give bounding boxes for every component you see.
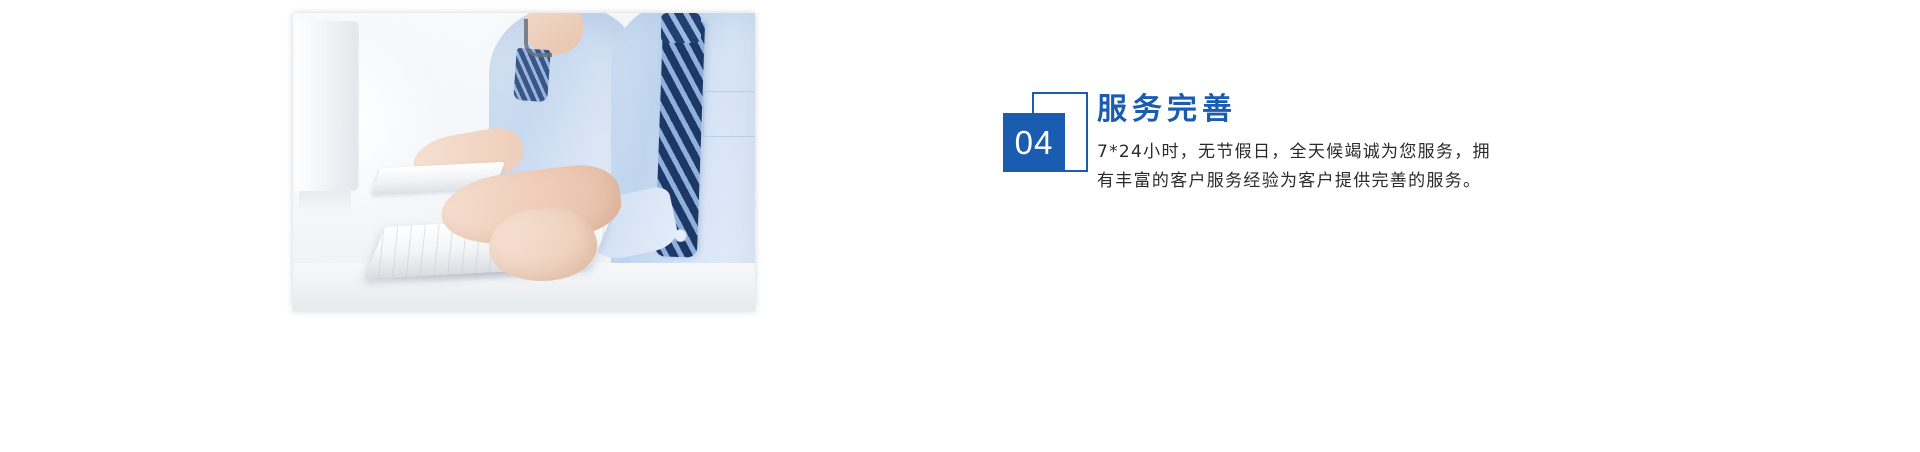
monitor-shape xyxy=(295,21,359,191)
monitor-stand-shape xyxy=(299,191,351,213)
person-front-pocket xyxy=(703,91,755,137)
feature-content: 04 服务完善 7*24小时，无节假日，全天候竭诚为您服务，拥有丰富的客户服务经… xyxy=(1003,92,1523,252)
feature-description: 7*24小时，无节假日，全天候竭诚为您服务，拥有丰富的客户服务经验为客户提供完善… xyxy=(1097,138,1497,196)
headset-icon xyxy=(524,19,552,57)
badge-solid-square: 04 xyxy=(1003,113,1065,172)
feature-banner: 04 服务完善 7*24小时，无节假日，全天候竭诚为您服务，拥有丰富的客户服务经… xyxy=(0,0,1920,452)
feature-photo-frame xyxy=(293,13,755,311)
feature-number-badge: 04 xyxy=(1003,92,1093,182)
office-customer-service-team-photo xyxy=(293,13,755,311)
feature-title: 服务完善 xyxy=(1097,92,1517,128)
feature-number-label: 04 xyxy=(1015,126,1054,159)
feature-text-column: 服务完善 7*24小时，无节假日，全天候竭诚为您服务，拥有丰富的客户服务经验为客… xyxy=(1097,92,1517,196)
person-front-tie-knot xyxy=(661,13,701,43)
